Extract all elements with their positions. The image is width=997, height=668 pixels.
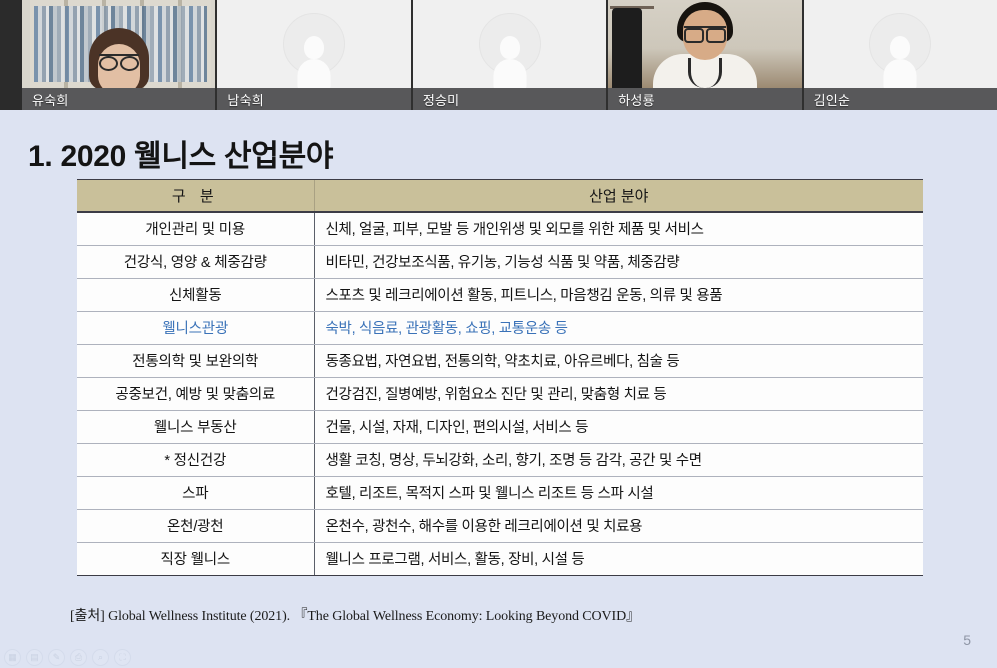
avatar-head-shape: [500, 36, 520, 59]
cell-category: 건강식, 영양 & 체중감량: [77, 245, 314, 278]
video-conference-strip: 유숙희남숙희정승미하성룡김인순: [0, 0, 997, 110]
cell-category: 웰니스 부동산: [77, 410, 314, 443]
viewer-toolbar: ▦▤✎⎙⌕⛶: [0, 646, 997, 668]
cell-category: 전통의학 및 보완의학: [77, 344, 314, 377]
cell-field: 신체, 얼굴, 피부, 모발 등 개인위생 및 외모를 위한 제품 및 서비스: [314, 212, 923, 245]
presentation-icon[interactable]: ▦: [4, 649, 21, 666]
cell-field: 생활 코칭, 명상, 두뇌강화, 소리, 향기, 조명 등 감각, 공간 및 수…: [314, 443, 923, 476]
cell-field: 건강검진, 질병예방, 위험요소 진단 및 관리, 맞춤형 치료 등: [314, 377, 923, 410]
avatar-body-shape: [298, 59, 331, 88]
cell-category: 직장 웰니스: [77, 542, 314, 575]
avatar-body-shape: [884, 59, 917, 88]
participant-name-bar: 정승미: [413, 88, 606, 110]
participant-video: [22, 0, 215, 88]
participant-name: 유숙희: [22, 90, 68, 109]
participant-avatar-placeholder: [413, 0, 606, 88]
source-citation: [출처] Global Wellness Institute (2021). 『…: [70, 605, 640, 625]
strip-left-gutter: [0, 0, 22, 110]
participant-tile[interactable]: 김인순: [804, 0, 997, 110]
participant-name-bar: 김인순: [804, 88, 997, 110]
hanging-jacket: [612, 8, 642, 88]
participant-tile[interactable]: 유숙희: [22, 0, 215, 110]
avatar-body-shape: [493, 59, 526, 88]
zoom-icon[interactable]: ⌕: [92, 649, 109, 666]
avatar-icon: [283, 13, 345, 75]
table-row: 웰니스 부동산건물, 시설, 자재, 디자인, 편의시설, 서비스 등: [77, 410, 923, 443]
cell-category: 온천/광천: [77, 509, 314, 542]
cell-field: 비타민, 건강보조식품, 유기농, 기능성 식품 및 약품, 체중감량: [314, 245, 923, 278]
fullscreen-icon[interactable]: ⛶: [114, 649, 131, 666]
participant-name-bar: 하성룡: [608, 88, 801, 110]
cell-field: 동종요법, 자연요법, 전통의학, 약초치료, 아유르베다, 침술 등: [314, 344, 923, 377]
cell-category: * 정신건강: [77, 443, 314, 476]
table-row: 웰니스관광숙박, 식음료, 관광활동, 쇼핑, 교통운송 등: [77, 311, 923, 344]
cell-field: 웰니스 프로그램, 서비스, 활동, 장비, 시설 등: [314, 542, 923, 575]
pen-icon[interactable]: ✎: [48, 649, 65, 666]
wellness-industry-table: 구 분 산업 분야 개인관리 및 미용신체, 얼굴, 피부, 모발 등 개인위생…: [77, 180, 923, 575]
person-glasses: [99, 54, 139, 66]
column-header-category: 구 분: [77, 180, 314, 212]
table-row: 스파호텔, 리조트, 목적지 스파 및 웰니스 리조트 등 스파 시설: [77, 476, 923, 509]
app-root: 유숙희남숙희정승미하성룡김인순 1. 2020 웰니스 산업분야 구 분 산업 …: [0, 0, 997, 668]
grid-view-icon[interactable]: ▤: [26, 649, 43, 666]
table-body: 개인관리 및 미용신체, 얼굴, 피부, 모발 등 개인위생 및 외모를 위한 …: [77, 212, 923, 575]
cell-category: 공중보건, 예방 및 맞춤의료: [77, 377, 314, 410]
cell-category: 신체활동: [77, 278, 314, 311]
table-header-row: 구 분 산업 분야: [77, 180, 923, 212]
cell-category: 개인관리 및 미용: [77, 212, 314, 245]
person-glasses: [684, 26, 726, 38]
cell-field: 호텔, 리조트, 목적지 스파 및 웰니스 리조트 등 스파 시설: [314, 476, 923, 509]
table-row: 건강식, 영양 & 체중감량비타민, 건강보조식품, 유기농, 기능성 식품 및…: [77, 245, 923, 278]
avatar-icon: [869, 13, 931, 75]
participant-avatar-placeholder: [804, 0, 997, 88]
cell-category: 웰니스관광: [77, 311, 314, 344]
column-header-field: 산업 분야: [314, 180, 923, 212]
participant-name: 정승미: [413, 90, 459, 109]
participant-tile[interactable]: 남숙희: [217, 0, 410, 110]
participant-name: 하성룡: [608, 90, 654, 109]
cell-field: 건물, 시설, 자재, 디자인, 편의시설, 서비스 등: [314, 410, 923, 443]
slide-title: 1. 2020 웰니스 산업분야: [28, 131, 333, 175]
participant-name: 김인순: [804, 90, 850, 109]
cell-category: 스파: [77, 476, 314, 509]
presentation-slide: 1. 2020 웰니스 산업분야 구 분 산업 분야 개인관리 및 미용신체, …: [0, 110, 997, 668]
avatar-icon: [479, 13, 541, 75]
cell-field: 스포츠 및 레크리에이션 활동, 피트니스, 마음챙김 운동, 의류 및 용품: [314, 278, 923, 311]
print-icon[interactable]: ⎙: [70, 649, 87, 666]
person-lanyard: [688, 58, 722, 88]
participant-tile[interactable]: 정승미: [413, 0, 606, 110]
table-row: 직장 웰니스웰니스 프로그램, 서비스, 활동, 장비, 시설 등: [77, 542, 923, 575]
table-row: 전통의학 및 보완의학동종요법, 자연요법, 전통의학, 약초치료, 아유르베다…: [77, 344, 923, 377]
table-row: 개인관리 및 미용신체, 얼굴, 피부, 모발 등 개인위생 및 외모를 위한 …: [77, 212, 923, 245]
participant-tile-list: 유숙희남숙희정승미하성룡김인순: [22, 0, 997, 110]
table-row: 공중보건, 예방 및 맞춤의료건강검진, 질병예방, 위험요소 진단 및 관리,…: [77, 377, 923, 410]
table-row: 온천/광천온천수, 광천수, 해수를 이용한 레크리에이션 및 치료용: [77, 509, 923, 542]
participant-video: [608, 0, 801, 88]
table-row: 신체활동스포츠 및 레크리에이션 활동, 피트니스, 마음챙김 운동, 의류 및…: [77, 278, 923, 311]
avatar-head-shape: [304, 36, 324, 59]
table-row: * 정신건강생활 코칭, 명상, 두뇌강화, 소리, 향기, 조명 등 감각, …: [77, 443, 923, 476]
participant-name-bar: 남숙희: [217, 88, 410, 110]
avatar-head-shape: [890, 36, 910, 59]
participant-name: 남숙희: [217, 90, 263, 109]
cell-field: 온천수, 광천수, 해수를 이용한 레크리에이션 및 치료용: [314, 509, 923, 542]
participant-tile[interactable]: 하성룡: [608, 0, 801, 110]
cell-field: 숙박, 식음료, 관광활동, 쇼핑, 교통운송 등: [314, 311, 923, 344]
participant-name-bar: 유숙희: [22, 88, 215, 110]
participant-avatar-placeholder: [217, 0, 410, 88]
